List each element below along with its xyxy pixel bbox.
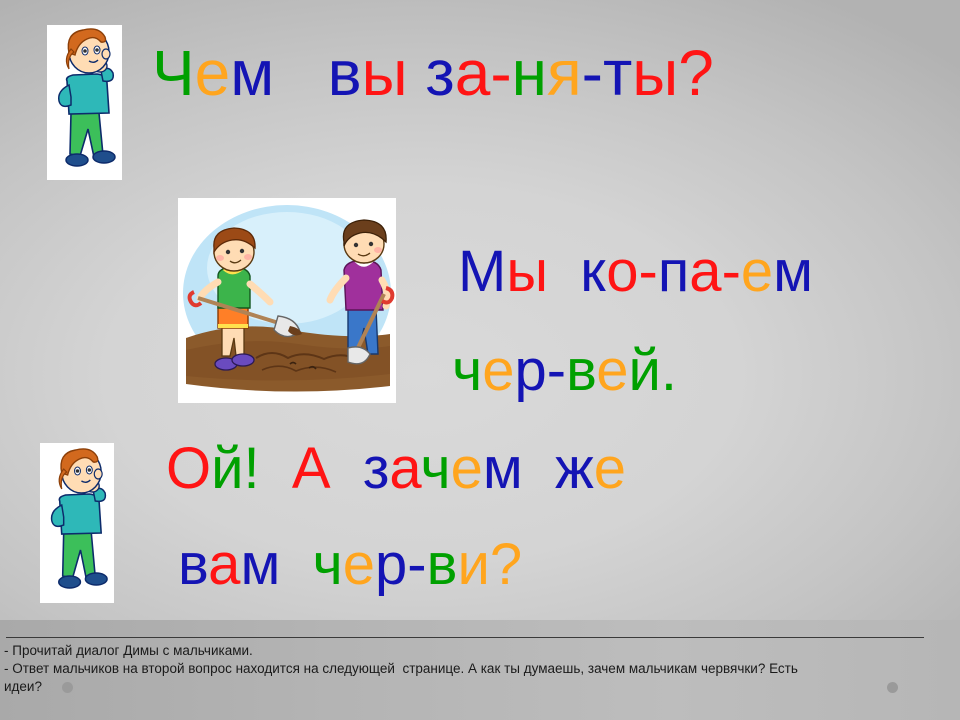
slide-canvas: Чем вы за-ня-ты? Мы ко-па-ем чер-вей. Ой… (0, 0, 960, 720)
footer-note-line-3: идеи? (4, 679, 42, 694)
text-span: е (482, 338, 514, 403)
text-line-2: Мы ко-па-ем (458, 243, 813, 301)
text-span: м (483, 436, 523, 501)
text-line-3: чер-вей. (452, 342, 677, 400)
text-span: м (240, 532, 280, 597)
text-span: ч (420, 436, 450, 501)
thinking-boy-bottom-svg (40, 443, 114, 603)
text-span (523, 436, 555, 501)
text-span: е (596, 338, 628, 403)
boys-digging-artwork (178, 198, 396, 403)
text-span (280, 532, 312, 597)
text-span: з (363, 436, 390, 501)
boys-digging-image (178, 198, 396, 403)
text-span: й (211, 436, 243, 501)
text-span: й (629, 338, 661, 403)
text-span: ы (632, 37, 678, 109)
text-span: в (566, 338, 596, 403)
text-span: а (208, 532, 240, 597)
text-span: з (425, 37, 454, 109)
footer-notes-panel: - Прочитай диалог Димы с мальчиками. - О… (0, 620, 960, 720)
text-span: е (741, 239, 773, 304)
text-span (260, 436, 292, 501)
footer-divider (6, 637, 924, 638)
text-span: е (594, 436, 626, 501)
text-span: - (582, 37, 603, 109)
thinking-boy-top-artwork (47, 25, 122, 180)
text-span: а (455, 37, 491, 109)
text-span: ! (244, 436, 260, 501)
text-span: - (407, 532, 426, 597)
boys-digging-svg (178, 198, 396, 403)
text-span: и (457, 532, 489, 597)
thinking-boy-bottom-artwork (40, 443, 114, 603)
text-span: ? (678, 37, 714, 109)
text-span: е (343, 532, 375, 597)
text-span: ы (362, 37, 408, 109)
text-span: в (328, 37, 362, 109)
thinking-boy-top-image (47, 25, 122, 180)
text-span: н (512, 37, 547, 109)
text-span: М (458, 239, 506, 304)
text-span (274, 37, 327, 109)
text-span: а (389, 436, 420, 501)
text-span: - (547, 338, 566, 403)
decorative-dot-left (62, 682, 73, 693)
text-span: . (661, 338, 677, 403)
footer-note-line-2: - Ответ мальчиков на второй вопрос наход… (4, 661, 798, 676)
text-span (548, 239, 580, 304)
text-span: ? (490, 532, 522, 597)
text-span: р (514, 338, 546, 403)
text-span: в (427, 532, 458, 597)
text-span: а (689, 239, 721, 304)
text-span: м (230, 37, 274, 109)
text-span: о (606, 239, 638, 304)
text-span: е (451, 436, 483, 501)
footer-note-line-1: - Прочитай диалог Димы с мальчиками. (4, 643, 253, 658)
text-span: А (292, 436, 331, 501)
text-span: - (722, 239, 741, 304)
thinking-boy-bottom-image (40, 443, 114, 603)
text-span: м (773, 239, 813, 304)
text-span: я (547, 37, 582, 109)
text-span (408, 37, 426, 109)
text-span: - (490, 37, 511, 109)
text-line-5: вам чер-ви? (178, 536, 522, 594)
text-line-4: Ой! А зачем же (166, 440, 626, 498)
text-span: в (178, 532, 208, 597)
text-span: ч (313, 532, 343, 597)
text-span: р (375, 532, 407, 597)
text-span: п (658, 239, 689, 304)
thinking-boy-top-svg (47, 25, 122, 180)
text-span: ч (452, 338, 482, 403)
text-span: к (580, 239, 606, 304)
text-span: ы (506, 239, 548, 304)
text-span: е (195, 37, 231, 109)
text-span: ж (555, 436, 594, 501)
decorative-dot-right (887, 682, 898, 693)
text-span: О (166, 436, 211, 501)
text-span: - (639, 239, 658, 304)
text-span: т (603, 37, 632, 109)
text-line-1: Чем вы за-ня-ты? (152, 41, 714, 105)
text-span: Ч (152, 37, 195, 109)
text-span (331, 436, 363, 501)
